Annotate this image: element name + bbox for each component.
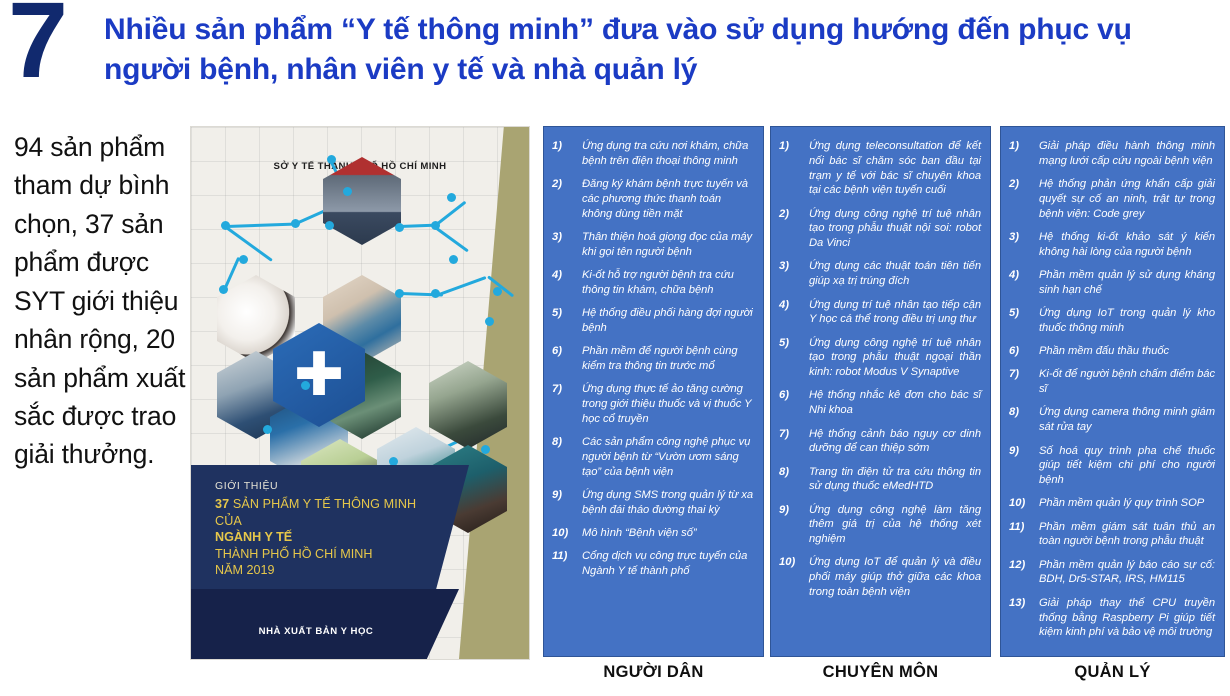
cover-title-block: GIỚI THIỆU 37 SẢN PHẨM Y TẾ THÔNG MINH C… xyxy=(215,480,445,579)
list-item: 2)Đăng ký khám bệnh trực tuyến và các ph… xyxy=(552,177,754,221)
slide-root: 7 Nhiều sản phẩm “Y tế thông minh” đưa v… xyxy=(0,0,1230,696)
list-item: 1)Ứng dụng tra cứu nơi khám, chữa bệnh t… xyxy=(552,139,754,169)
connector-node xyxy=(291,219,300,228)
column-chuyen-mon: 1)Ứng dụng teleconsultation để kết nối b… xyxy=(770,126,991,657)
connector-node xyxy=(327,155,336,164)
list-item-number: 11) xyxy=(1009,520,1039,550)
list-item-text: Ứng dụng teleconsultation để kết nối bác… xyxy=(809,139,981,198)
list-item-number: 6) xyxy=(1009,344,1039,359)
list-item: 3)Ứng dụng các thuật toán tiên tiến giúp… xyxy=(779,259,981,289)
list-item-number: 11) xyxy=(552,549,582,579)
connector-node xyxy=(493,287,502,296)
list-item-number: 2) xyxy=(552,177,582,221)
list-item-text: Trang tin điện tử tra cứu thông tin sử d… xyxy=(809,465,981,495)
list-item-number: 13) xyxy=(1009,596,1039,640)
list-item: 4)Phần mềm quản lý sử dụng kháng sinh hạ… xyxy=(1009,268,1215,298)
list-item-number: 4) xyxy=(552,268,582,298)
list-item-number: 7) xyxy=(1009,367,1039,397)
list-item: 13)Giải pháp thay thế CPU truyền thống b… xyxy=(1009,596,1215,640)
list-item-number: 5) xyxy=(779,336,809,380)
list-item-number: 10) xyxy=(552,526,582,541)
list-item-text: Ứng dụng camera thông minh giám sát rửa … xyxy=(1039,405,1215,435)
list-item: 1)Ứng dụng teleconsultation để kết nối b… xyxy=(779,139,981,198)
list-item-text: Thân thiện hoá giọng đọc của máy khi gọi… xyxy=(582,230,754,260)
connector-node xyxy=(449,255,458,264)
list-item-text: Giải pháp thay thế CPU truyền thống bằng… xyxy=(1039,596,1215,640)
book-cover-image: SỞ Y TẾ THÀNH PHỐ HỒ CHÍ MINH xyxy=(190,126,530,660)
connector-node xyxy=(301,381,310,390)
connector-node xyxy=(343,187,352,196)
list-item-text: Ứng dụng công nghệ trí tuệ nhân tạo tron… xyxy=(809,336,981,380)
list-item-text: Hệ thống ki-ốt khảo sát ý kiến không hài… xyxy=(1039,230,1215,260)
connector-node xyxy=(431,221,440,230)
page-title: Nhiều sản phẩm “Y tế thông minh” đưa vào… xyxy=(104,10,1222,90)
list-item: 12)Phần mềm quản lý báo cáo sự cố: BDH, … xyxy=(1009,558,1215,588)
connector-node xyxy=(481,445,490,454)
cover-title-line1-rest: SẢN PHẨM Y TẾ THÔNG MINH CỦA xyxy=(215,497,416,528)
list-item-text: Hệ thống nhắc kê đơn cho bác sĩ Nhi khoa xyxy=(809,388,981,418)
list-item-number: 1) xyxy=(552,139,582,169)
connector-edge xyxy=(224,225,273,262)
list-item-number: 1) xyxy=(779,139,809,198)
list-item-text: Ki-ốt hỗ trợ người bệnh tra cứu thông ti… xyxy=(582,268,754,298)
list-item-number: 12) xyxy=(1009,558,1039,588)
connector-node xyxy=(395,289,404,298)
list-item-text: Ứng dụng IoT để quản lý và điều phối máy… xyxy=(809,555,981,599)
list-item-number: 10) xyxy=(1009,496,1039,511)
list-item-text: Giải pháp điều hành thông minh mạng lưới… xyxy=(1039,139,1215,169)
list-item: 10) Phần mềm quản lý quy trình SOP xyxy=(1009,496,1215,511)
list-item: 7)Ki-ốt để người bệnh chấm điểm bác sĩ xyxy=(1009,367,1215,397)
cover-intro-label: GIỚI THIỆU xyxy=(215,480,445,492)
list-item-number: 9) xyxy=(552,488,582,518)
list-item-text: Hệ thống điều phối hàng đợi người bệnh xyxy=(582,306,754,336)
list-item: 5)Hệ thống điều phối hàng đợi người bệnh xyxy=(552,306,754,336)
list-item: 3)Hệ thống ki-ốt khảo sát ý kiến không h… xyxy=(1009,230,1215,260)
list-item-number: 1) xyxy=(1009,139,1039,169)
list-item-number: 9) xyxy=(779,503,809,547)
list-item: 1)Giải pháp điều hành thông minh mạng lư… xyxy=(1009,139,1215,169)
list-item: 11)Cổng dịch vụ công trực tuyến của Ngàn… xyxy=(552,549,754,579)
list-item-text: Phần mềm quản lý báo cáo sự cố: BDH, Dr5… xyxy=(1039,558,1215,588)
list-item-text: Phần mềm quản lý quy trình SOP xyxy=(1039,496,1215,511)
list-item-number: 5) xyxy=(552,306,582,336)
list-item-number: 5) xyxy=(1009,306,1039,336)
list-item-number: 8) xyxy=(1009,405,1039,435)
connector-node xyxy=(221,221,230,230)
cover-title-line-1: 37 SẢN PHẨM Y TẾ THÔNG MINH CỦA xyxy=(215,496,445,529)
list-item-text: Đăng ký khám bệnh trực tuyến và các phươ… xyxy=(582,177,754,221)
connector-edge xyxy=(433,225,469,252)
list-item-text: Ứng dụng SMS trong quản lý từ xa bệnh đá… xyxy=(582,488,754,518)
cover-title-line-4: NĂM 2019 xyxy=(215,562,445,579)
connector-node xyxy=(239,255,248,264)
list-item: 11)Phần mềm giám sát tuân thủ an toàn ng… xyxy=(1009,520,1215,550)
list-item-text: Ứng dụng thực tế ảo tăng cường trong giớ… xyxy=(582,382,754,426)
cover-title-line-2: NGÀNH Y TẾ xyxy=(215,529,445,546)
list-item-text: Ứng dụng công nghệ trí tuệ nhân tạo tron… xyxy=(809,207,981,251)
connector-node xyxy=(219,285,228,294)
list-item-text: Phần mềm giám sát tuân thủ an toàn người… xyxy=(1039,520,1215,550)
list-item-text: Số hoá quy trình pha chế thuốc giúp tiết… xyxy=(1039,444,1215,488)
list-item: 2)Ứng dụng công nghệ trí tuệ nhân tạo tr… xyxy=(779,207,981,251)
list-item: 4)Ứng dụng trí tuệ nhân tạo tiếp cận Y h… xyxy=(779,298,981,328)
photo-hex-waiting-area xyxy=(429,361,507,449)
list-item: 4)Ki-ốt hỗ trợ người bệnh tra cứu thông … xyxy=(552,268,754,298)
connector-node xyxy=(447,193,456,202)
list-item-text: Ứng dụng công nghệ làm tăng thêm giá trị… xyxy=(809,503,981,547)
cross-icon: ✚ xyxy=(294,354,344,396)
list-item-text: Mô hình “Bệnh viện số” xyxy=(582,526,754,541)
list-item-text: Hệ thống cảnh báo nguy cơ dinh dưỡng để … xyxy=(809,427,981,457)
list-item: 6)Phần mềm đấu thầu thuốc xyxy=(1009,344,1215,359)
connector-edge xyxy=(224,257,241,289)
connector-edge xyxy=(438,276,486,296)
list-item: 3)Thân thiện hoá giọng đọc của máy khi g… xyxy=(552,230,754,260)
column-label-quan-ly: QUẢN LÝ xyxy=(1000,663,1225,682)
connector-node xyxy=(389,457,398,466)
connector-node xyxy=(431,289,440,298)
list-item-text: Các sản phẩm công nghệ phục vụ người bện… xyxy=(582,435,754,479)
list-item: 9)Ứng dụng SMS trong quản lý từ xa bệnh … xyxy=(552,488,754,518)
list-item-number: 7) xyxy=(779,427,809,457)
cover-title-line-3: THÀNH PHỐ HỒ CHÍ MINH xyxy=(215,546,445,563)
column-label-chuyen-mon: CHUYÊN MÔN xyxy=(770,663,991,682)
list-item: 9)Ứng dụng công nghệ làm tăng thêm giá t… xyxy=(779,503,981,547)
list-item-text: Phần mềm quản lý sử dụng kháng sinh hạn … xyxy=(1039,268,1215,298)
cover-title-number: 37 xyxy=(215,497,229,511)
list-item-number: 8) xyxy=(552,435,582,479)
list-item-number: 8) xyxy=(779,465,809,495)
list-item-number: 10) xyxy=(779,555,809,599)
list-item: 7)Hệ thống cảnh báo nguy cơ dinh dưỡng đ… xyxy=(779,427,981,457)
list-item-number: 2) xyxy=(1009,177,1039,221)
list-item-text: Ứng dụng các thuật toán tiên tiến giúp x… xyxy=(809,259,981,289)
connector-node xyxy=(395,223,404,232)
list-item-number: 7) xyxy=(552,382,582,426)
list-item: 5)Ứng dụng IoT trong quản lý kho thuốc t… xyxy=(1009,306,1215,336)
slide-number: 7 xyxy=(8,0,66,94)
list-item-text: Ứng dụng IoT trong quản lý kho thuốc thô… xyxy=(1039,306,1215,336)
list-item: 6)Phần mềm để người bệnh cùng kiểm tra t… xyxy=(552,344,754,374)
list-item-text: Cổng dịch vụ công trực tuyến của Ngành Y… xyxy=(582,549,754,579)
list-item-number: 3) xyxy=(779,259,809,289)
list-item: 9)Số hoá quy trình pha chế thuốc giúp ti… xyxy=(1009,444,1215,488)
list-item: 10) Mô hình “Bệnh viện số” xyxy=(552,526,754,541)
left-summary-text: 94 sản phẩm tham dự bình chọn, 37 sản ph… xyxy=(14,128,186,474)
connector-node xyxy=(485,317,494,326)
list-item-text: Ứng dụng trí tuệ nhân tạo tiếp cận Y học… xyxy=(809,298,981,328)
list-item: 5)Ứng dụng công nghệ trí tuệ nhân tạo tr… xyxy=(779,336,981,380)
connector-node xyxy=(263,425,272,434)
list-item: 7)Ứng dụng thực tế ảo tăng cường trong g… xyxy=(552,382,754,426)
list-item-number: 4) xyxy=(1009,268,1039,298)
connector-edge xyxy=(225,223,295,228)
list-item: 8)Các sản phẩm công nghệ phục vụ người b… xyxy=(552,435,754,479)
list-item: 2)Hệ thống phản ứng khẩn cấp giải quyết … xyxy=(1009,177,1215,221)
column-label-nguoi-dan: NGƯỜI DÂN xyxy=(543,663,764,682)
list-item-number: 9) xyxy=(1009,444,1039,488)
column-nguoi-dan: 1)Ứng dụng tra cứu nơi khám, chữa bệnh t… xyxy=(543,126,764,657)
list-item-text: Phần mềm để người bệnh cùng kiểm tra thô… xyxy=(582,344,754,374)
list-item-number: 6) xyxy=(552,344,582,374)
connector-node xyxy=(325,221,334,230)
list-item: 8)Trang tin điện tử tra cứu thông tin sử… xyxy=(779,465,981,495)
list-item-number: 3) xyxy=(552,230,582,260)
list-item-text: Phần mềm đấu thầu thuốc xyxy=(1039,344,1215,359)
cover-publisher: NHÀ XUẤT BẢN Y HỌC xyxy=(191,626,441,637)
list-item: 10) Ứng dụng IoT để quản lý và điều phối… xyxy=(779,555,981,599)
list-item-number: 3) xyxy=(1009,230,1039,260)
list-item-number: 6) xyxy=(779,388,809,418)
list-item: 6)Hệ thống nhắc kê đơn cho bác sĩ Nhi kh… xyxy=(779,388,981,418)
list-item: 8)Ứng dụng camera thông minh giám sát rử… xyxy=(1009,405,1215,435)
list-item-text: Ứng dụng tra cứu nơi khám, chữa bệnh trê… xyxy=(582,139,754,169)
list-item-text: Hệ thống phản ứng khẩn cấp giải quyết sự… xyxy=(1039,177,1215,221)
list-item-number: 2) xyxy=(779,207,809,251)
column-quan-ly: 1)Giải pháp điều hành thông minh mạng lư… xyxy=(1000,126,1225,657)
cover-publisher-band xyxy=(191,589,459,659)
list-item-number: 4) xyxy=(779,298,809,328)
list-item-text: Ki-ốt để người bệnh chấm điểm bác sĩ xyxy=(1039,367,1215,397)
